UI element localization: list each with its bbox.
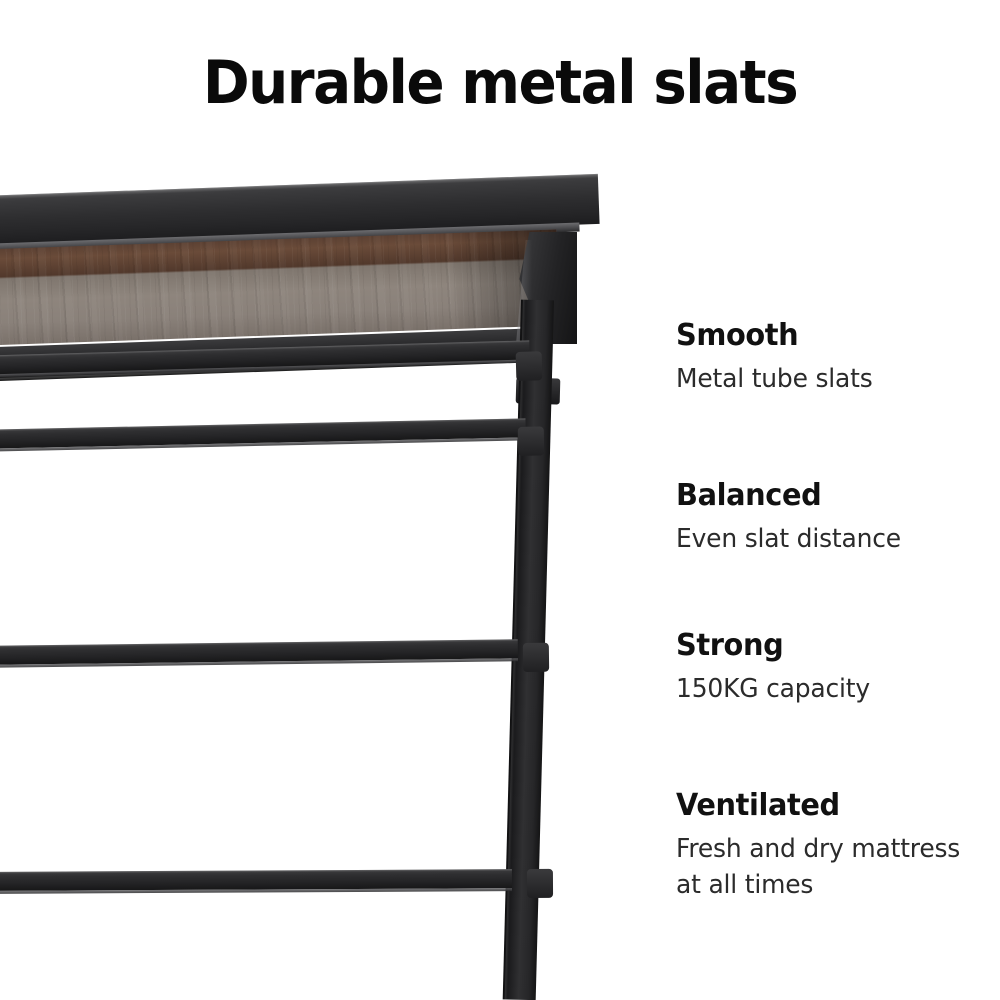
bed-slat-connector-tab — [516, 351, 543, 381]
bed-slat-connector-tab — [518, 426, 545, 456]
feature-description-balanced: Even slat distance — [676, 522, 964, 557]
bed-slat-connector-tab — [523, 643, 549, 672]
feature-title-strong: Strong — [676, 628, 964, 663]
feature-title-smooth: Smooth — [676, 318, 964, 353]
bed-metal-slat — [0, 869, 512, 891]
feature-description-ventilated: Fresh and dry mattress at all times — [676, 832, 964, 903]
feature-title-ventilated: Ventilated — [676, 788, 964, 823]
feature-block-smooth: Smooth Metal tube slats — [676, 318, 976, 398]
bed-metal-slat — [0, 418, 526, 449]
feature-description-smooth: Metal tube slats — [676, 362, 964, 397]
product-image — [0, 0, 640, 1000]
feature-title-balanced: Balanced — [676, 478, 964, 513]
feature-block-strong: Strong 150KG capacity — [676, 628, 976, 708]
bed-slat-connector-tab — [527, 869, 553, 898]
feature-block-ventilated: Ventilated Fresh and dry mattress at all… — [676, 788, 976, 903]
feature-description-strong: 150KG capacity — [676, 672, 964, 707]
bed-metal-slat — [0, 639, 518, 665]
product-feature-page: Durable metal slats Smooth Metal tube sl… — [0, 0, 1000, 1000]
bed-wood-panel — [0, 229, 560, 346]
feature-block-balanced: Balanced Even slat distance — [676, 478, 976, 558]
